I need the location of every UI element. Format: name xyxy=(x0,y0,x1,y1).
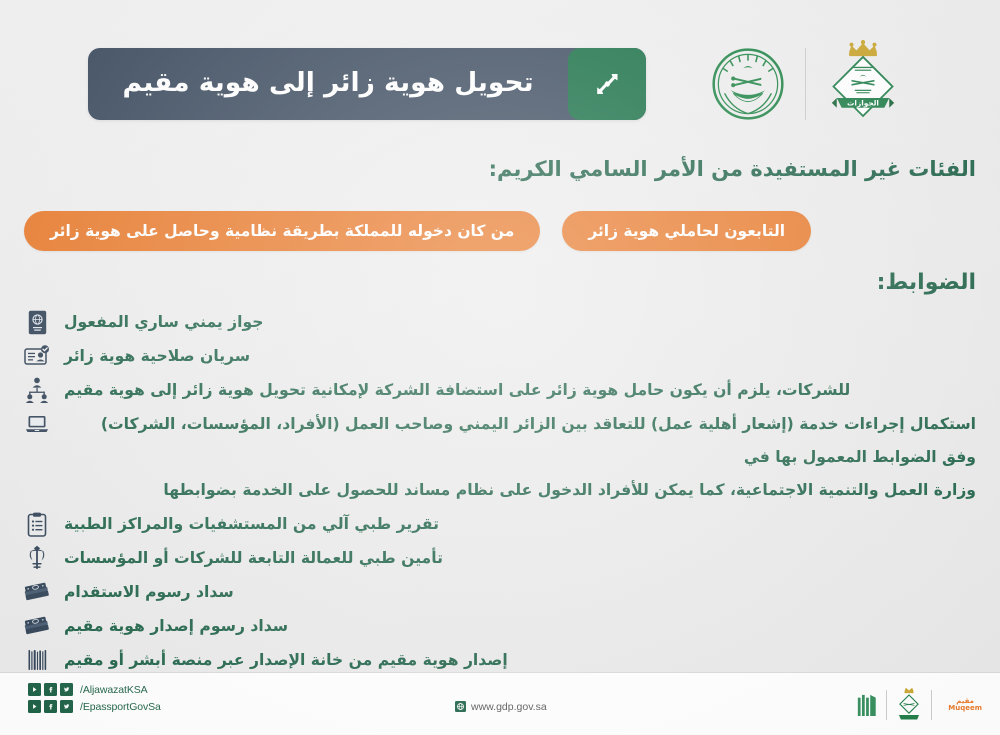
rule-text: تأمين طبي للعمالة التابعة للشركات أو الم… xyxy=(64,541,443,575)
website-url[interactable]: www.gdp.gov.sa xyxy=(471,701,547,713)
barcode-icon xyxy=(24,645,50,675)
clipboard-medical-report-icon xyxy=(24,509,50,539)
excluded-pill-1: التابعون لحاملي هوية زائر xyxy=(562,211,811,251)
footer-divider-1 xyxy=(931,690,932,720)
rule-item: سداد رسوم الاستقدام xyxy=(24,575,976,609)
rule-item: جواز يمني ساري المفعول xyxy=(24,305,976,339)
rule-item: تقرير طبي آلي من المستشفيات والمراكز الط… xyxy=(24,507,976,541)
absher-mark-icon xyxy=(856,692,878,718)
excluded-pills-row: من كان دخوله للمملكة بطريقة نظامية وحاصل… xyxy=(24,210,976,252)
passport-icon xyxy=(24,307,50,337)
muqeem-label-en: Muqeem xyxy=(948,705,982,712)
social-handle[interactable]: /EpassportGovSa xyxy=(80,701,161,713)
rule-text: جواز يمني ساري المفعول xyxy=(64,305,264,339)
excluded-pill-2: من كان دخوله للمملكة بطريقة نظامية وحاصل… xyxy=(24,211,540,251)
laptop-icon xyxy=(24,409,50,439)
caduceus-medical-icon xyxy=(24,543,50,573)
ministry-of-interior-logo xyxy=(707,38,789,130)
id-card-check-icon xyxy=(24,341,50,371)
footer-partner-logos: مقيم Muqeem xyxy=(856,685,982,725)
rule-item: تأمين طبي للعمالة التابعة للشركات أو الم… xyxy=(24,541,976,575)
rule-text: سداد رسوم إصدار هوية مقيم xyxy=(64,609,288,643)
social-handle[interactable]: /AljawazatKSA xyxy=(80,684,148,696)
svg-text:الجوازات: الجوازات xyxy=(847,98,879,107)
facebook-icon[interactable] xyxy=(44,683,57,696)
rule-item: سداد رسوم إصدار هوية مقيم xyxy=(24,609,976,643)
rule-item: سريان صلاحية هوية زائر xyxy=(24,339,976,373)
money-stack-icon xyxy=(24,611,50,641)
social-row: /AljawazatKSA xyxy=(28,683,161,696)
saudi-passports-directorate-logo: الجوازات xyxy=(822,38,904,130)
transfer-arrows-icon xyxy=(568,48,646,120)
youtube-icon[interactable] xyxy=(28,700,41,713)
page-header: تحويل هوية زائر إلى هوية مقيم xyxy=(0,34,1000,134)
saudi-passports-crown-logo xyxy=(895,685,923,725)
rule-item: للشركات، يلزم أن يكون حامل هوية زائر على… xyxy=(24,373,976,407)
title-banner: تحويل هوية زائر إلى هوية مقيم xyxy=(88,48,646,120)
rule-text: سريان صلاحية هوية زائر xyxy=(64,339,250,373)
page-title: تحويل هوية زائر إلى هوية مقيم xyxy=(88,48,568,120)
rule-text: سداد رسوم الاستقدام xyxy=(64,575,234,609)
social-links: /AljawazatKSA /EpassportGovSa xyxy=(28,683,161,713)
rule-text: استكمال إجراءات خدمة (إشعار أهلية عمل) ل… xyxy=(64,407,976,507)
social-row: /EpassportGovSa xyxy=(28,700,161,713)
globe-badge-icon xyxy=(455,697,466,716)
rule-item: استكمال إجراءات خدمة (إشعار أهلية عمل) ل… xyxy=(24,407,976,507)
rule-text-line-2: وزارة العمل والتنمية الاجتماعية، كما يمك… xyxy=(64,474,976,507)
facebook-icon[interactable] xyxy=(44,700,57,713)
muqeem-logo: مقيم Muqeem xyxy=(948,698,982,713)
twitter-icon[interactable] xyxy=(60,683,73,696)
youtube-icon[interactable] xyxy=(28,683,41,696)
twitter-icon[interactable] xyxy=(60,700,73,713)
rules-list: جواز يمني ساري المفعول سريان صلاحية هوية… xyxy=(24,305,976,677)
footer-divider-2 xyxy=(886,690,887,720)
money-stack-icon xyxy=(24,577,50,607)
excluded-categories-title: الفئات غير المستفيدة من الأمر السامي الك… xyxy=(489,157,976,181)
rules-title: الضوابط: xyxy=(877,270,976,295)
website-link[interactable]: www.gdp.gov.sa xyxy=(455,697,547,716)
rule-text: تقرير طبي آلي من المستشفيات والمراكز الط… xyxy=(64,507,439,541)
org-chart-people-icon xyxy=(24,375,50,405)
logo-divider xyxy=(805,48,806,120)
infographic-page: تحويل هوية زائر إلى هوية مقيم xyxy=(0,0,1000,735)
header-logos: الجوازات xyxy=(707,38,904,130)
page-footer: /AljawazatKSA /EpassportGovSa xyxy=(0,673,1000,735)
rule-text-line-1: استكمال إجراءات خدمة (إشعار أهلية عمل) ل… xyxy=(101,415,976,466)
rule-text: للشركات، يلزم أن يكون حامل هوية زائر على… xyxy=(64,373,850,407)
